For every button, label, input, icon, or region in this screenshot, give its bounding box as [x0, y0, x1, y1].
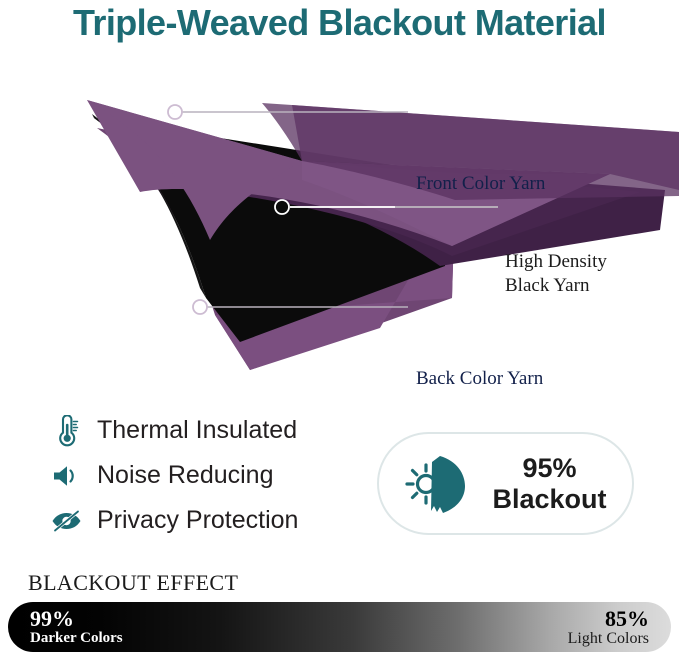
callout-label-high-density-black-yarn: High Density Black Yarn: [505, 250, 665, 298]
eye-slash-icon: [46, 502, 88, 540]
speaker-icon: [46, 457, 88, 495]
feature-list: Thermal Insulated Noise Reducing Privacy…: [46, 408, 366, 543]
callout-label-black-line1: High Density: [505, 250, 665, 274]
blackout-percentage-badge: 95% Blackout: [377, 432, 634, 535]
blackout-stat-darker-colors: 99% Darker Colors: [30, 607, 123, 647]
callout-label-black-line2: Black Yarn: [505, 274, 665, 298]
feature-label-noise-reducing: Noise Reducing: [97, 461, 274, 490]
fabric-layers-diagram: Front Color Yarn High Density Black Yarn…: [0, 70, 679, 370]
callout-label-front-color-yarn: Front Color Yarn: [416, 172, 545, 196]
callout-label-back-color-yarn: Back Color Yarn: [416, 367, 543, 391]
blackout-effect-gradient-bar: 99% Darker Colors 85% Light Colors: [8, 602, 671, 652]
sun-curtain-icon: [399, 448, 475, 520]
darker-colors-caption: Darker Colors: [30, 630, 123, 647]
callout-dot-icon-front: [168, 105, 182, 119]
fabric-layers-illustration: [0, 70, 679, 370]
blackout-badge-text: 95% Blackout: [475, 453, 624, 513]
blackout-badge-caption: Blackout: [475, 484, 624, 514]
callout-dot-icon-black: [275, 200, 289, 214]
darker-colors-percent: 99%: [30, 607, 123, 630]
blackout-effect-heading: BLACKOUT EFFECT: [28, 570, 238, 596]
blackout-badge-percent: 95%: [475, 453, 624, 483]
light-colors-caption: Light Colors: [568, 630, 649, 648]
feature-item-noise-reducing: Noise Reducing: [46, 453, 366, 498]
light-colors-percent: 85%: [568, 607, 649, 630]
feature-item-thermal-insulated: Thermal Insulated: [46, 408, 366, 453]
feature-label-thermal-insulated: Thermal Insulated: [97, 416, 297, 445]
feature-item-privacy-protection: Privacy Protection: [46, 498, 366, 543]
page-title: Triple-Weaved Blackout Material: [0, 2, 679, 44]
callout-dot-icon-back: [193, 300, 207, 314]
blackout-stat-light-colors: 85% Light Colors: [568, 607, 649, 648]
thermometer-icon: [46, 412, 88, 450]
feature-label-privacy-protection: Privacy Protection: [97, 506, 298, 535]
